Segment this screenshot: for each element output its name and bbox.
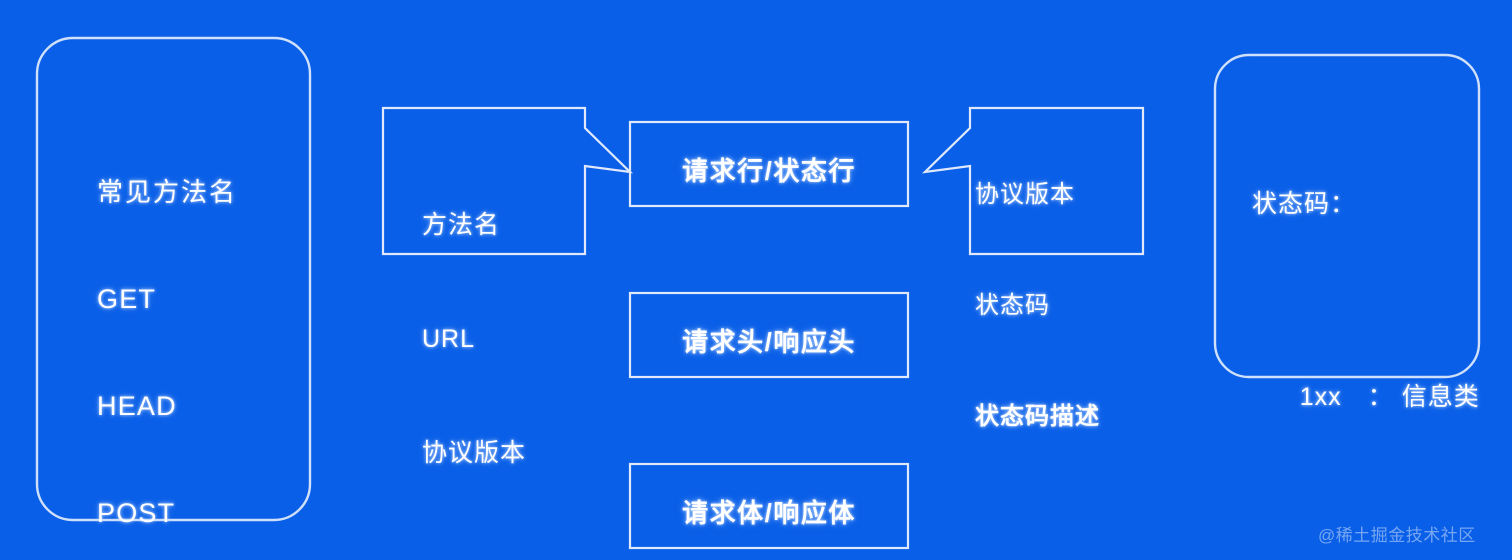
method-item-head: HEAD: [97, 389, 239, 425]
status-panel: 状态码： 1xx：信息类 2xx：成功 3xx：重定向 4xx：客户端错误 5x…: [1252, 108, 1512, 560]
message-box-body-label: 请求体/响应体: [630, 493, 908, 530]
callout-status-line: 协议版本 状态码 状态码描述: [975, 102, 1100, 509]
message-box-line-label: 请求行/状态行: [630, 151, 908, 188]
status-sep-1xx: ：: [1368, 378, 1402, 417]
diagram-canvas: 常见方法名 GET HEAD POST PUT DELETE CONNECT O…: [0, 0, 1512, 560]
method-item-get: GET: [97, 282, 239, 318]
status-panel-heading: 状态码：: [1252, 185, 1512, 224]
callout-request-line: 方法名 URL 协议版本: [422, 130, 526, 548]
methods-panel-heading: 常见方法名: [97, 175, 239, 211]
status-row-1xx: 1xx：信息类: [1252, 339, 1512, 455]
callout-request-line-item-url: URL: [422, 320, 526, 358]
methods-panel: 常见方法名 GET HEAD POST PUT DELETE CONNECT O…: [97, 104, 239, 560]
callout-status-line-item-version: 协议版本: [975, 176, 1100, 213]
method-item-post: POST: [97, 496, 239, 532]
status-desc-1xx: 信息类: [1402, 383, 1480, 411]
callout-status-line-item-reason: 状态码描述: [975, 398, 1100, 435]
status-code-1xx: 1xx: [1300, 378, 1368, 417]
callout-request-line-item-method: 方法名: [422, 206, 526, 244]
callout-request-line-item-version: 协议版本: [422, 434, 526, 472]
callout-status-line-item-code: 状态码: [975, 287, 1100, 324]
watermark: @稀土掘金技术社区: [1318, 521, 1476, 546]
message-box-header-label: 请求头/响应头: [630, 322, 908, 359]
